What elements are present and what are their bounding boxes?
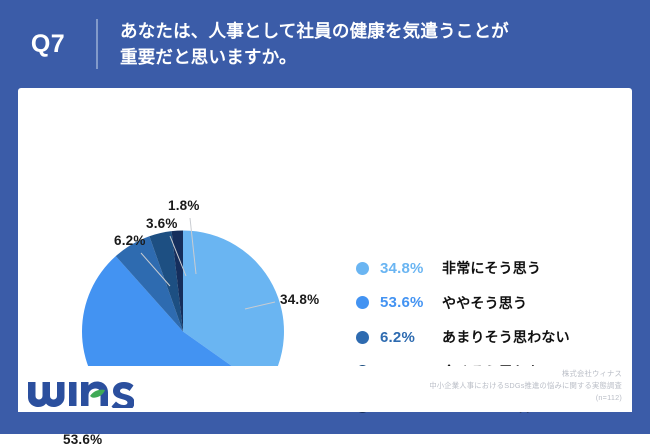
- chart-card: 34.8% 53.6% 6.2% 3.6% 1.8% 34.8%非常にそう思う5…: [18, 88, 632, 410]
- winas-logo: WINAS: [26, 374, 134, 408]
- question-text: あなたは、人事として社員の健康を気遣うことが 重要だと思いますか。: [120, 18, 509, 71]
- credit-sample-size: (n=112): [429, 392, 622, 404]
- legend-percent: 53.6%: [380, 294, 442, 311]
- legend-label: ややそう思う: [442, 293, 527, 313]
- question-number: Q7: [0, 30, 96, 59]
- legend-row: 6.2%あまりそう思わない: [356, 327, 602, 347]
- slice-label-3-6: 3.6%: [146, 216, 178, 231]
- slice-label-53-6: 53.6%: [63, 432, 102, 447]
- legend-color-dot: [356, 296, 369, 309]
- legend-label: あまりそう思わない: [442, 327, 570, 347]
- slide-footer: WINAS 株式会社ウィナス 中小企業人事におけるSDGs推進の悩みに関する実態…: [18, 366, 632, 412]
- slice-label-1-8: 1.8%: [168, 198, 200, 213]
- footer-credit: 株式会社ウィナス 中小企業人事におけるSDGs推進の悩みに関する実態調査 (n=…: [429, 368, 622, 404]
- pie-chart-area: 34.8% 53.6% 6.2% 3.6% 1.8%: [18, 88, 348, 388]
- legend-color-dot: [356, 331, 369, 344]
- question-header: Q7 あなたは、人事として社員の健康を気遣うことが 重要だと思いますか。: [0, 0, 650, 88]
- legend-percent: 34.8%: [380, 260, 442, 277]
- credit-company: 株式会社ウィナス: [429, 368, 622, 380]
- legend-percent: 6.2%: [380, 329, 442, 346]
- legend-color-dot: [356, 262, 369, 275]
- credit-survey-title: 中小企業人事におけるSDGs推進の悩みに関する実態調査: [429, 380, 622, 392]
- legend-row: 53.6%ややそう思う: [356, 293, 602, 313]
- pie-slice-group: [82, 231, 284, 389]
- legend-label: 非常にそう思う: [442, 258, 541, 278]
- pie-chart: [18, 88, 348, 388]
- slice-label-6-2: 6.2%: [114, 233, 146, 248]
- question-text-line-1: あなたは、人事として社員の健康を気遣うことが: [120, 18, 509, 44]
- survey-result-slide: Q7 あなたは、人事として社員の健康を気遣うことが 重要だと思いますか。 34.…: [0, 0, 650, 434]
- header-divider: [96, 19, 98, 69]
- slice-label-34-8: 34.8%: [280, 292, 319, 307]
- question-text-line-2: 重要だと思いますか。: [120, 44, 509, 70]
- legend-row: 34.8%非常にそう思う: [356, 258, 602, 278]
